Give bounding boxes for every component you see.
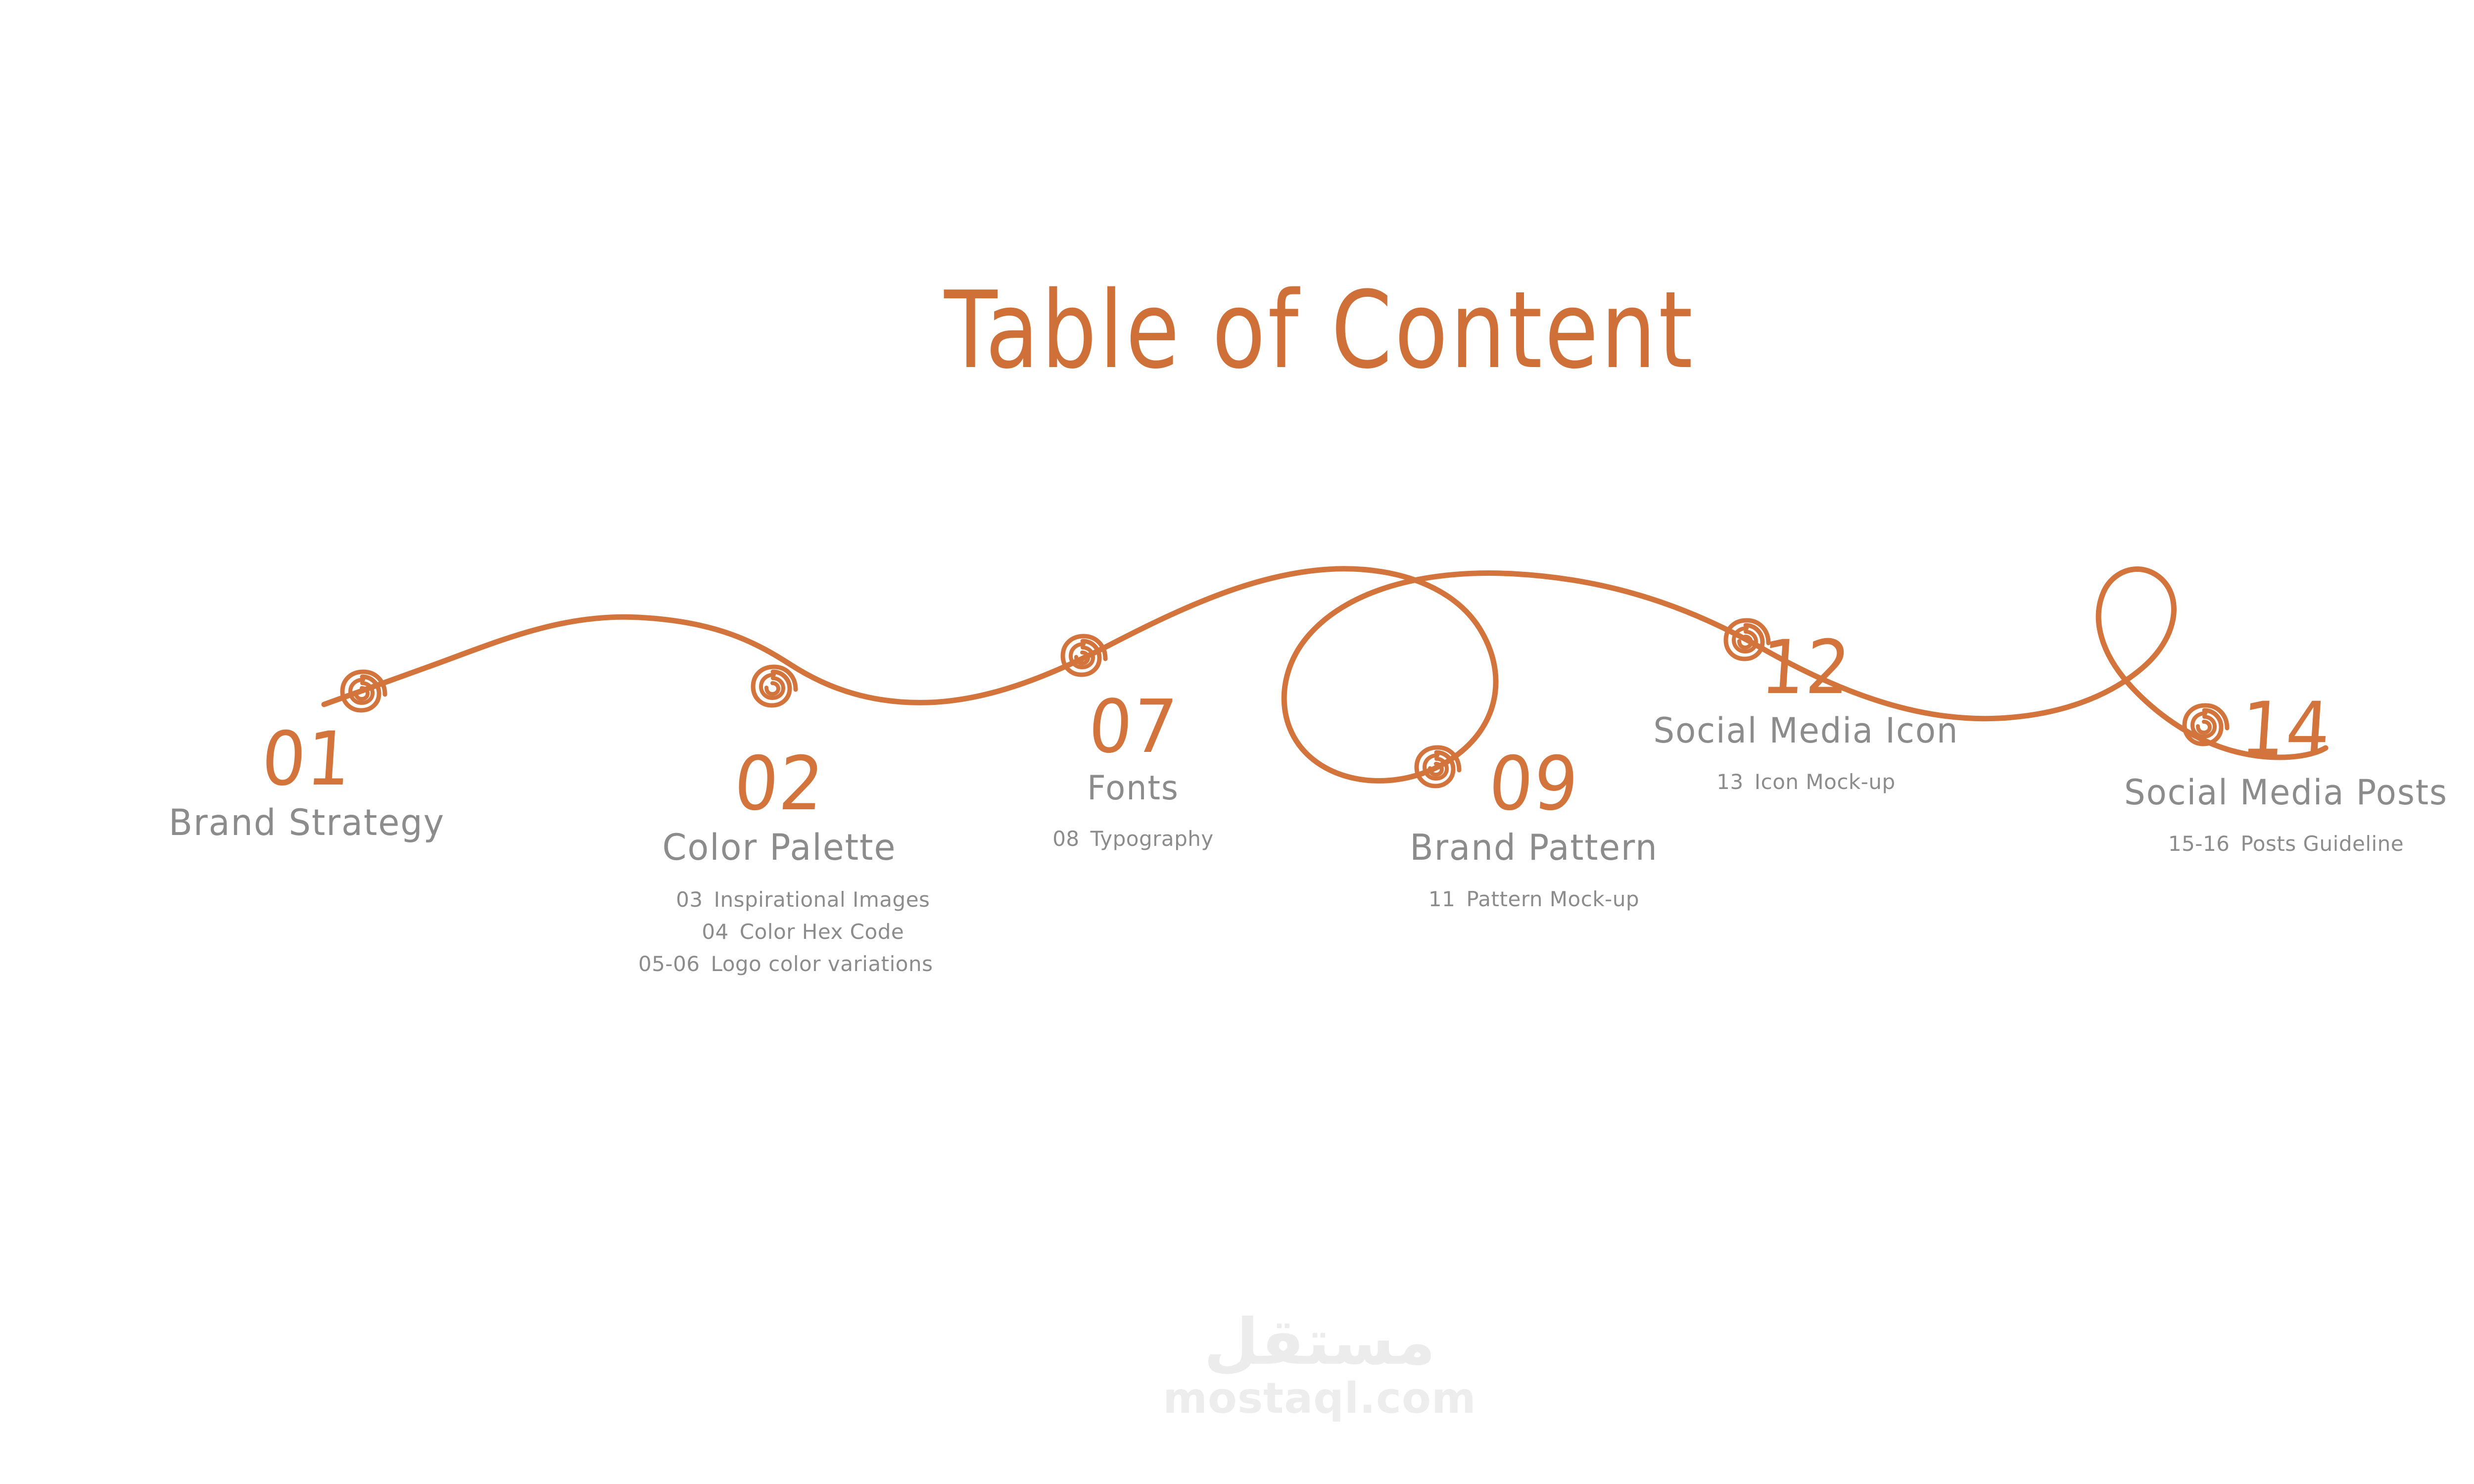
subitem-label: Icon Mock-up	[1755, 766, 1896, 798]
list-item[interactable]: 05-06 Logo color variations	[542, 948, 1017, 980]
list-item[interactable]: 04 Color Hex Code	[542, 916, 1017, 948]
milestone-number: 01	[58, 722, 556, 796]
milestone-number: 02	[556, 747, 1003, 821]
milestone-subitems: 15-16 Posts Guideline	[1999, 828, 2474, 860]
list-item[interactable]: 13 Icon Mock-up	[1544, 766, 2068, 798]
milestone-01[interactable]: 01 Brand Strategy	[42, 722, 571, 844]
subitem-label: Posts Guideline	[2240, 828, 2404, 860]
milestone-title: Social Media Posts	[2010, 773, 2474, 813]
milestone-title: Brand Strategy	[52, 802, 561, 844]
milestone-title: Fonts	[948, 769, 1319, 808]
spiral-node-icon-01	[342, 672, 385, 710]
watermark-arabic: مستقل	[0, 1311, 2474, 1374]
subitem-label: Pattern Mock-up	[1466, 883, 1639, 915]
milestone-title: Brand Pattern	[1278, 827, 1791, 868]
milestone-12[interactable]: 12 Social Media Icon 13 Icon Mock-up	[1544, 631, 2068, 798]
list-item[interactable]: 15-16 Posts Guideline	[1999, 828, 2474, 860]
subitem-number: 15-16	[2168, 828, 2241, 860]
spiral-node-icon-02	[753, 667, 796, 705]
milestone-number: 12	[1560, 631, 2052, 705]
subitem-label: Color Hex Code	[740, 916, 904, 948]
subitem-number: 03	[629, 883, 714, 916]
milestone-subitems: 03 Inspirational Images 04 Color Hex Cod…	[542, 883, 1017, 980]
spiral-node-icon-03	[1063, 636, 1105, 675]
milestone-number: 07	[951, 690, 1315, 763]
milestone-subitems: 11 Pattern Mock-up	[1267, 883, 1801, 915]
subitem-number: 13	[1716, 766, 1754, 798]
subitem-label: Inspirational Images	[714, 883, 930, 916]
list-item[interactable]: 03 Inspirational Images	[542, 883, 1017, 916]
milestone-number: 14	[2017, 693, 2474, 767]
milestone-14[interactable]: 14 Social Media Posts 15-16 Posts Guidel…	[1999, 693, 2474, 860]
milestone-title: Color Palette	[551, 827, 1007, 869]
subitem-label: Logo color variations	[711, 948, 933, 980]
milestone-title: Social Media Icon	[1554, 711, 2058, 751]
watermark: مستقل mostaql.com	[0, 1311, 2474, 1420]
milestone-subitems: 13 Icon Mock-up	[1544, 766, 2068, 798]
list-item[interactable]: 11 Pattern Mock-up	[1267, 883, 1801, 915]
subitem-number: 08	[1052, 823, 1090, 855]
page-title: Table of Content	[238, 277, 2402, 383]
slide-canvas: Table of Content 01 Brand Strategy 02 Co…	[0, 0, 2474, 1484]
subitem-number: 05-06	[626, 948, 711, 980]
subitem-number: 04	[655, 916, 740, 948]
subitem-number: 11	[1428, 883, 1466, 915]
subitem-label: Typography	[1091, 823, 1214, 855]
watermark-domain: mostaql.com	[0, 1377, 2474, 1420]
